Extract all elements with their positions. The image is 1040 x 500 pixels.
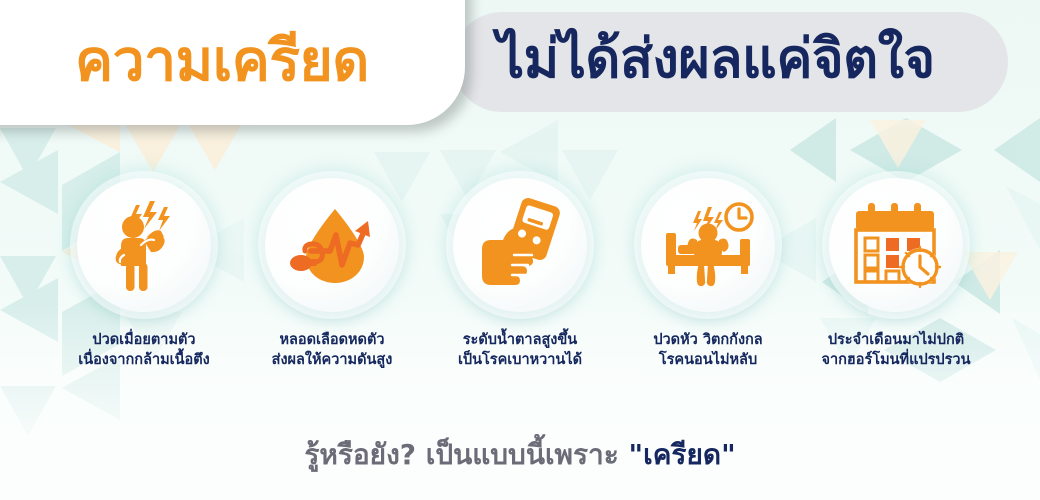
caption-line-1: หลอดเลือดหดตัว	[272, 330, 393, 350]
card-caption: ระดับน้ำตาลสูงขึ้น เป็นโรคเบาหวานได้	[458, 330, 582, 370]
glucose-meter-hand-icon	[468, 193, 572, 297]
calendar-clock-icon	[844, 193, 948, 297]
icon-disc	[453, 178, 587, 312]
icon-disc	[265, 178, 399, 312]
caption-line-1: ปวดเมื่อยตามตัว	[78, 330, 210, 350]
card-caption: ปวดเมื่อยตามตัว เนื่องจากกล้ามเนื้อตึง	[78, 330, 210, 370]
card-caption: ปวดหัว วิตกกังกล โรคนอนไม่หลับ	[653, 330, 762, 370]
symptom-card[interactable]: ปวดหัว วิตกกังกล โรคนอนไม่หลับ	[624, 178, 792, 370]
symptom-card[interactable]: ประจำเดือนมาไม่ปกติ จากฮอร์โมนที่แปรปรวน	[812, 178, 980, 370]
caption-line-2: เนื่องจากกล้ามเนื้อตึง	[78, 350, 210, 370]
symptom-card-row: ปวดเมื่อยตามตัว เนื่องจากกล้ามเนื้อตึง	[0, 178, 1040, 398]
caption-line-1: ระดับน้ำตาลสูงขึ้น	[458, 330, 582, 350]
infographic-canvas: ความเครียด ไม่ได้ส่งผลแค่จิตใจ	[0, 0, 1040, 500]
caption-line-2: ส่งผลให้ความดันสูง	[272, 350, 393, 370]
footer-tagline: รู้หรือยัง? เป็นแบบนี้เพราะ "เครียด"	[0, 438, 1040, 472]
symptom-card[interactable]: หลอดเลือดหดตัว ส่งผลให้ความดันสูง	[248, 178, 416, 370]
person-neck-pain-icon	[92, 193, 196, 297]
footer-lead-text: รู้หรือยัง? เป็นแบบนี้เพราะ	[304, 438, 628, 471]
icon-disc	[829, 178, 963, 312]
blood-drop-pressure-icon	[280, 193, 384, 297]
page-title-rest: ไม่ได้ส่งผลแค่จิตใจ	[497, 32, 935, 86]
page-title-highlight: ความเครียด	[75, 33, 369, 90]
icon-disc	[77, 178, 211, 312]
card-caption: หลอดเลือดหดตัว ส่งผลให้ความดันสูง	[272, 330, 393, 370]
caption-line-1: ปวดหัว วิตกกังกล	[653, 330, 762, 350]
symptom-card[interactable]: ปวดเมื่อยตามตัว เนื่องจากกล้ามเนื้อตึง	[60, 178, 228, 370]
caption-line-1: ประจำเดือนมาไม่ปกติ	[822, 330, 971, 350]
caption-line-2: โรคนอนไม่หลับ	[653, 350, 762, 370]
card-caption: ประจำเดือนมาไม่ปกติ จากฮอร์โมนที่แปรปรวน	[822, 330, 971, 370]
footer-emphasis-text: "เครียด"	[629, 438, 736, 471]
caption-line-2: เป็นโรคเบาหวานได้	[458, 350, 582, 370]
icon-disc	[641, 178, 775, 312]
icon-disc-wrap[interactable]: ระดับน้ำตาลสูงขึ้น เป็นโรคเบาหวานได้	[436, 178, 604, 370]
header-banner: ความเครียด ไม่ได้ส่งผลแค่จิตใจ	[0, 0, 1040, 145]
insomnia-bed-clock-icon	[656, 193, 760, 297]
caption-line-2: จากฮอร์โมนที่แปรปรวน	[822, 350, 971, 370]
